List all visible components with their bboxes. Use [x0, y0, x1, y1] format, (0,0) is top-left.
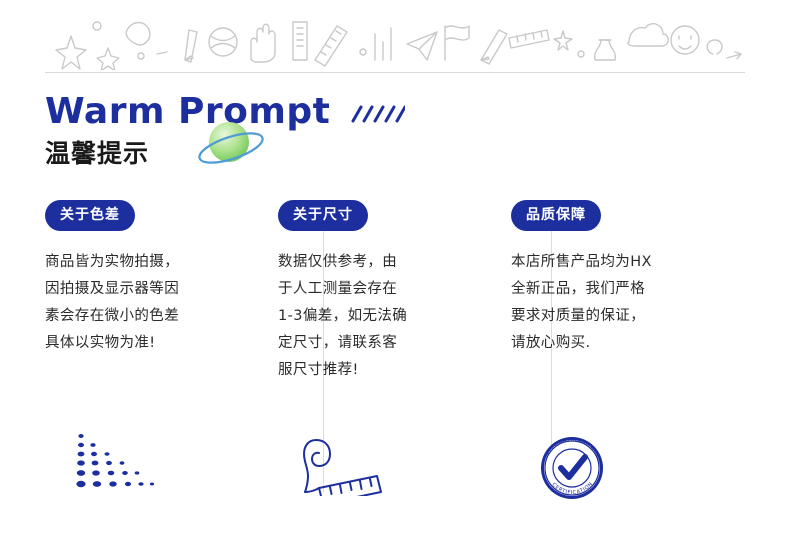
text-line: 定尺寸，请联系客 [278, 330, 468, 357]
badge-color-difference: 关于色差 [45, 200, 135, 231]
badge-quality: 品质保障 [511, 200, 601, 231]
column-size: 关于尺寸 数据仅供参考，由 于人工测量会存在 1-3偏差，如无法确 定尺寸，请联… [278, 200, 511, 500]
badge-size: 关于尺寸 [278, 200, 368, 231]
header-divider [45, 72, 745, 73]
text-line: 服尺寸推荐! [278, 357, 468, 384]
column-quality: 品质保障 本店所售产品均为HX 全新正品，我们严格 要求对质量的保证， 请放心购… [511, 200, 744, 500]
text-line: 全新正品，我们严格 [511, 276, 701, 303]
column-quality-text: 本店所售产品均为HX 全新正品，我们严格 要求对质量的保证， 请放心购买. [511, 249, 701, 357]
text-line: 于人工测量会存在 [278, 276, 468, 303]
column-color-difference: 关于色差 商品皆为实物拍摄， 因拍摄及显示器等因 素会存在微小的色差 具体以实物… [45, 200, 278, 500]
quality-seal-checkmark-icon: INTERNATIONAL QUALITY CERTIFICATION [535, 430, 609, 500]
text-line: 具体以实物为准! [45, 330, 235, 357]
text-line: 素会存在微小的色差 [45, 303, 235, 330]
text-line: 要求对质量的保证， [511, 303, 701, 330]
decorative-doodle-strip [45, 8, 745, 70]
column-color-difference-text: 商品皆为实物拍摄， 因拍摄及显示器等因 素会存在微小的色差 具体以实物为准! [45, 249, 235, 357]
title-slashes-icon [347, 101, 405, 131]
text-line: 1-3偏差，如无法确 [278, 303, 468, 330]
text-line: 商品皆为实物拍摄， [45, 249, 235, 276]
column-size-text: 数据仅供参考，由 于人工测量会存在 1-3偏差，如无法确 定尺寸，请联系客 服尺… [278, 249, 468, 384]
text-line: 请放心购买. [511, 330, 701, 357]
info-columns: 关于色差 商品皆为实物拍摄， 因拍摄及显示器等因 素会存在微小的色差 具体以实物… [45, 200, 745, 500]
text-line: 数据仅供参考，由 [278, 249, 468, 276]
planet-icon [195, 120, 269, 172]
page-title-cn: 温馨提示 [45, 138, 149, 170]
text-line: 本店所售产品均为HX [511, 249, 701, 276]
tape-measure-icon [302, 430, 394, 500]
page-title-en: Warm Prompt [45, 92, 330, 132]
text-line: 因拍摄及显示器等因 [45, 276, 235, 303]
halftone-dots-triangle-icon [73, 430, 159, 500]
title-block: Warm Prompt 温馨提示 [45, 92, 745, 182]
